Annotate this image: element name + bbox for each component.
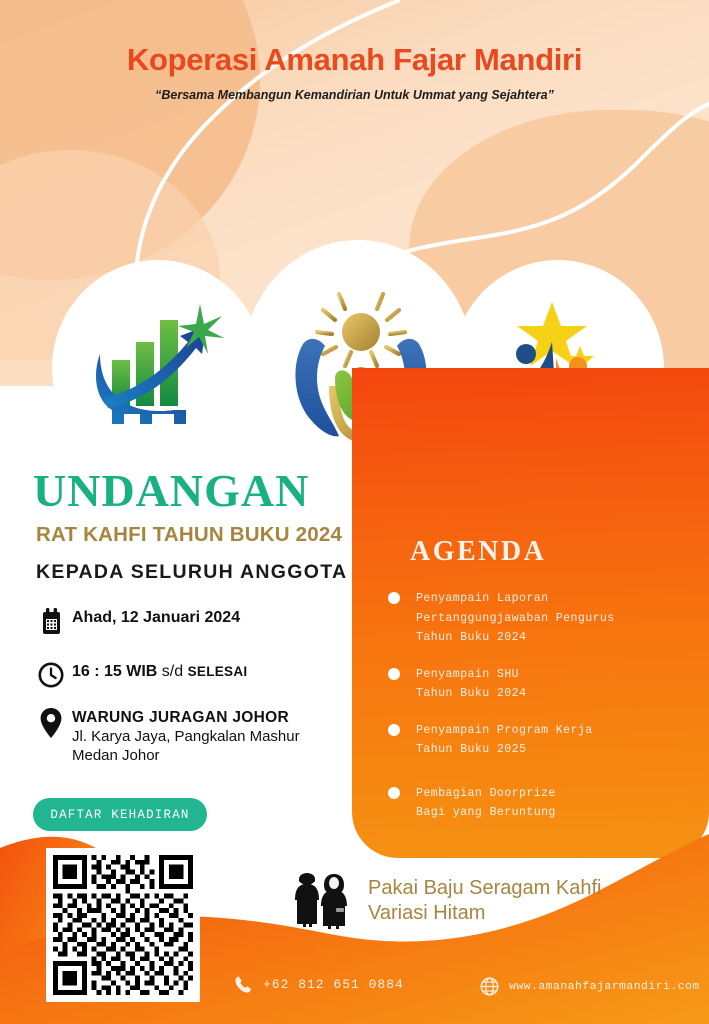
map-pin-icon (36, 708, 66, 738)
event-date: Ahad, 12 Januari 2024 (66, 608, 240, 627)
invitation-poster: Koperasi Amanah Fajar Mandiri “Bersama M… (0, 0, 709, 1024)
dresscode-text: Pakai Baju Seragam Kahfi Variasi Hitam (368, 876, 601, 926)
bullet-icon (388, 724, 400, 736)
event-time: 16 : 15 WIB s/d SELESAI (66, 662, 247, 681)
bullet-icon (388, 592, 400, 604)
calendar-icon (36, 608, 66, 635)
dresscode-row: Pakai Baju Seragam Kahfi Variasi Hitam (290, 868, 601, 934)
time-start: 16 : 15 WIB (72, 663, 157, 680)
website-url: www.amanahfajarmandiri.com (509, 981, 700, 993)
qr-code[interactable] (46, 848, 200, 1002)
agenda-item-text: Penyampain Laporan Pertanggungjawaban Pe… (416, 592, 615, 644)
invitation-title: UNDANGAN (33, 468, 309, 514)
globe-icon (480, 977, 499, 996)
time-row: 16 : 15 WIB s/d SELESAI (36, 662, 247, 688)
date-row: Ahad, 12 Januari 2024 (36, 608, 240, 635)
invitation-recipient: KEPADA SELURUH ANGGOTA (36, 561, 347, 584)
agenda-list: Penyampain Laporan Pertanggungjawaban Pe… (388, 588, 688, 839)
qr-code-image (53, 855, 193, 995)
venue-street: Jl. Karya Jaya, Pangkalan Mashur (72, 727, 300, 746)
venue-area: Medan Johor (72, 746, 300, 765)
phone-icon (234, 975, 253, 994)
agenda-item: Penyampain Program Kerja Tahun Buku 2025 (388, 720, 688, 759)
time-separator: s/d (157, 663, 187, 680)
phone-row[interactable]: +62 812 651 0884 (234, 975, 404, 994)
clock-icon (36, 662, 66, 688)
bullet-icon (388, 787, 400, 799)
invitation-subtitle: RAT KAHFI TAHUN BUKU 2024 (36, 523, 342, 547)
agenda-item-text: Penyampain Program Kerja Tahun Buku 2025 (416, 724, 593, 757)
location-row: WARUNG JURAGAN JOHOR Jl. Karya Jaya, Pan… (36, 708, 300, 765)
agenda-item-text: Penyampain SHU Tahun Buku 2024 (416, 668, 526, 701)
couple-icon (290, 868, 356, 934)
website-row[interactable]: www.amanahfajarmandiri.com (480, 977, 700, 996)
agenda-title: AGENDA (410, 536, 546, 568)
venue-block: WARUNG JURAGAN JOHOR Jl. Karya Jaya, Pan… (66, 708, 300, 765)
page-title: Koperasi Amanah Fajar Mandiri (0, 42, 709, 78)
agenda-item: Penyampain Laporan Pertanggungjawaban Pe… (388, 588, 688, 647)
phone-number: +62 812 651 0884 (263, 977, 404, 992)
time-end: SELESAI (188, 664, 248, 679)
agenda-item: Penyampain SHU Tahun Buku 2024 (388, 664, 688, 703)
growth-chart-logo (88, 292, 228, 432)
tagline: “Bersama Membangun Kemandirian Untuk Umm… (0, 88, 709, 102)
bullet-icon (388, 668, 400, 680)
venue-name: WARUNG JURAGAN JOHOR (72, 708, 300, 727)
